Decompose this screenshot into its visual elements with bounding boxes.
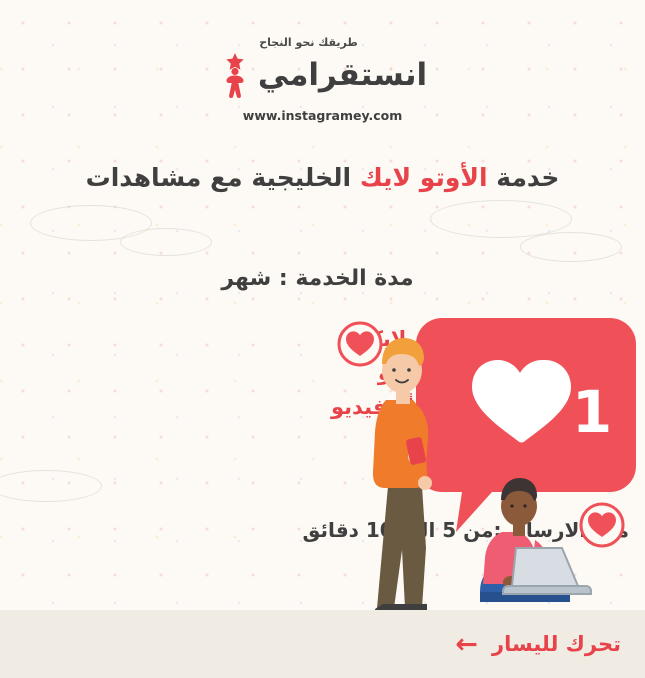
- service-duration: مدة الخدمة : شهر: [0, 266, 640, 291]
- like-count: 1: [572, 378, 612, 446]
- brand-url: www.instagramey.com: [0, 108, 645, 123]
- cloud-decoration: [520, 232, 622, 262]
- cta-label: تحرك لليسار: [492, 632, 621, 656]
- title-part-1: خدمة: [488, 163, 560, 192]
- bottom-cta-bar[interactable]: تحرك لليسار ←: [0, 610, 645, 678]
- brand-tagline: طريقك نحو النجاح: [0, 36, 631, 49]
- brand-name: انستقرامي: [258, 60, 427, 91]
- title-accent: الأوتو لايك: [360, 163, 488, 192]
- arrow-left-icon[interactable]: ←: [455, 631, 478, 658]
- page-title: خدمة الأوتو لايك الخليجية مع مشاهدات: [0, 162, 645, 195]
- cloud-decoration: [0, 470, 102, 502]
- person-star-icon: [218, 51, 252, 99]
- promo-card: طريقك نحو النجاح انستقرامي www.instagram…: [0, 0, 645, 678]
- heart-icon-badge-top: [339, 323, 381, 365]
- cloud-decoration: [120, 228, 212, 256]
- heart-icon-badge-bottom: [581, 504, 623, 546]
- brand-logo: طريقك نحو النجاح انستقرامي www.instagram…: [0, 36, 645, 123]
- title-part-2: الخليجية مع مشاهدات: [86, 163, 360, 192]
- man-with-laptop: [480, 478, 591, 602]
- illustration: 1: [330, 300, 645, 630]
